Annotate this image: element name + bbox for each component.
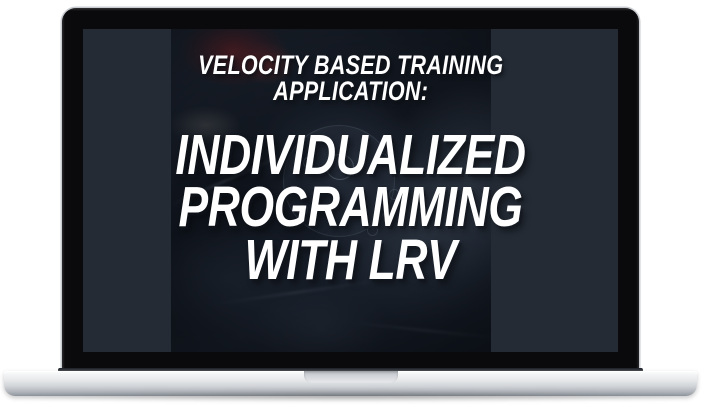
laptop-lid: VELOCITY BASED TRAINING APPLICATION: IND… [62,8,639,372]
laptop-display[interactable]: VELOCITY BASED TRAINING APPLICATION: IND… [83,29,618,352]
laptop-lid-open-notch [304,371,398,383]
screenshot-stage: VELOCITY BASED TRAINING APPLICATION: IND… [0,0,701,405]
slide-text-block: VELOCITY BASED TRAINING APPLICATION: IND… [83,29,618,352]
laptop-drop-shadow [26,392,676,402]
slide-kicker: VELOCITY BASED TRAINING APPLICATION: [198,52,503,105]
slide-headline: INDIVIDUALIZED PROGRAMMING WITH LRV [175,129,525,286]
